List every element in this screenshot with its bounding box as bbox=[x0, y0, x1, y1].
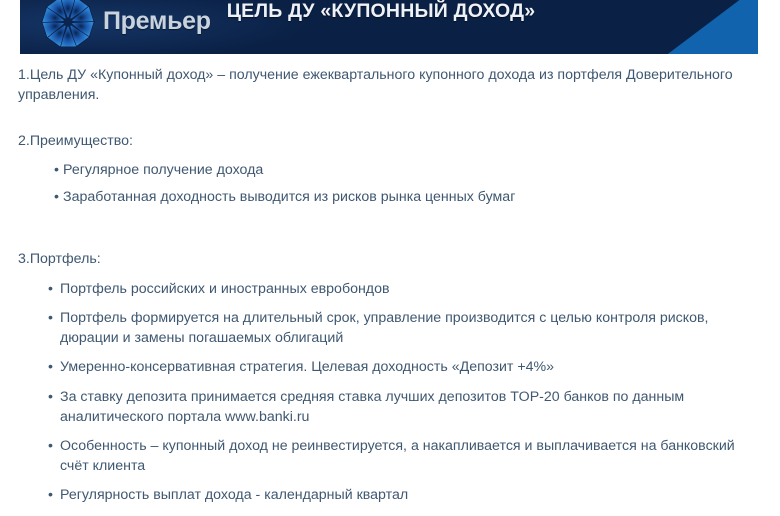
list-item: Особенность – купонный доход не реинвест… bbox=[48, 437, 766, 476]
list-item: Заработанная доходность выводится из рис… bbox=[54, 188, 766, 208]
section-goal: 1.Цель ДУ «Купонный доход» – получение е… bbox=[0, 66, 780, 105]
list-item: Портфель формируется на длительный срок,… bbox=[48, 309, 766, 348]
section-portfolio: 3.Портфель: Портфель российских и иностр… bbox=[0, 250, 780, 506]
list-item: За ставку депозита принимается средняя с… bbox=[48, 388, 766, 427]
slide-body: 1.Цель ДУ «Купонный доход» – получение е… bbox=[0, 62, 780, 516]
slide-header-band: Премьер ЦЕЛЬ ДУ «КУПОННЫЙ ДОХОД» bbox=[20, 0, 758, 54]
list-item: Регулярное получение дохода bbox=[54, 161, 766, 181]
advantage-bullet-list: Регулярное получение дохода Заработанная… bbox=[54, 161, 766, 208]
list-item: Портфель российских и иностранных евробо… bbox=[48, 280, 766, 300]
section-portfolio-heading: 3.Портфель: bbox=[18, 250, 766, 270]
list-item: Умеренно-консервативная стратегия. Целев… bbox=[48, 358, 766, 378]
section-advantage-heading: 2.Преимущество: bbox=[18, 132, 766, 152]
portfolio-bullet-list: Портфель российских и иностранных евробо… bbox=[48, 280, 766, 506]
section-goal-heading: 1.Цель ДУ «Купонный доход» – получение е… bbox=[18, 66, 766, 105]
list-item: Регулярность выплат дохода - календарный… bbox=[48, 486, 766, 506]
slide-title: ЦЕЛЬ ДУ «КУПОННЫЙ ДОХОД» bbox=[20, 0, 758, 23]
section-advantage: 2.Преимущество: Регулярное получение дох… bbox=[0, 132, 780, 208]
